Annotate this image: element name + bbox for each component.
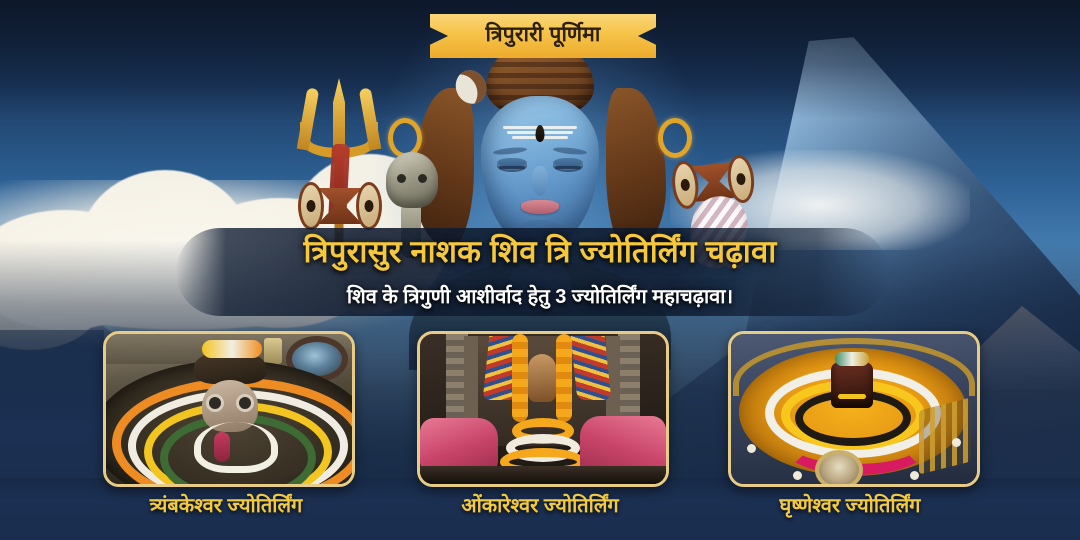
- damru-head-right: [356, 182, 382, 230]
- jyotirlinga-caption: ओंकारेश्वर ज्योतिर्लिंग: [390, 492, 690, 520]
- golden-railing-right: [919, 398, 971, 475]
- sanctum-floor: [420, 466, 666, 484]
- eye-left: [497, 158, 527, 170]
- pink-flower-strand: [214, 432, 230, 462]
- omkareshwar-jyotirlinga-photo: [420, 334, 666, 484]
- eye-right: [553, 158, 583, 170]
- shivling-silver-eyes: [206, 394, 254, 414]
- railing-knob: [747, 444, 756, 453]
- jyotirlinga-caption: घृष्णेश्वर ज्योतिर्लिंग: [700, 492, 1000, 520]
- lips: [521, 200, 559, 214]
- jyotirlinga-caption: त्र्यंबकेश्वर ज्योतिर्लिंग: [76, 492, 376, 520]
- trishul-prong-center: [333, 78, 345, 150]
- railing-knob: [952, 438, 961, 447]
- trishul-icon: [286, 78, 392, 253]
- damru-icon: [298, 182, 382, 230]
- brass-vessel: [264, 338, 282, 364]
- white-garland: [194, 422, 278, 473]
- striped-drape-right: [571, 336, 612, 400]
- trimbakeshwar-jyotirlinga-photo: [106, 334, 352, 484]
- marigold-strand-left: [512, 334, 528, 422]
- jyotirlinga-card[interactable]: [103, 331, 355, 487]
- page-title: त्रिपुरासुर नाशक शिव त्रि ज्योतिर्लिंग च…: [0, 232, 1080, 272]
- festival-ribbon-label: त्रिपुरारी पूर्णिमा: [486, 21, 601, 51]
- railing-knob: [793, 471, 802, 480]
- eyebrow-right: [553, 146, 587, 156]
- pink-flower-bed-right: [580, 416, 666, 472]
- third-eye-icon: [536, 125, 545, 142]
- earring-right: [658, 118, 692, 158]
- jyotirlinga-card-list: [0, 331, 1080, 481]
- festival-ribbon-badge: त्रिपुरारी पूर्णिमा: [430, 14, 656, 58]
- offering-bowl: [815, 450, 863, 484]
- nose: [532, 166, 548, 196]
- crown-flowers: [202, 340, 262, 358]
- page-subtitle: शिव के त्रिगुणी आशीर्वाद हेतु 3 ज्योतिर्…: [0, 283, 1080, 311]
- golden-railing: [733, 338, 975, 396]
- cobra-hood: [386, 152, 438, 208]
- pink-flower-bed-left: [420, 418, 498, 470]
- marigold-strand-right: [556, 334, 572, 422]
- damru-head-left: [298, 182, 324, 230]
- eyebrow-left: [493, 146, 527, 156]
- jyotirlinga-card[interactable]: [417, 331, 669, 487]
- shivling: [528, 354, 556, 402]
- grishneshwar-jyotirlinga-photo: [731, 334, 977, 484]
- jyotirlinga-card[interactable]: [728, 331, 980, 487]
- railing-knob: [910, 471, 919, 480]
- festival-banner: त्रिपुरासुर नाशक शिव त्रि ज्योतिर्लिंग च…: [0, 0, 1080, 540]
